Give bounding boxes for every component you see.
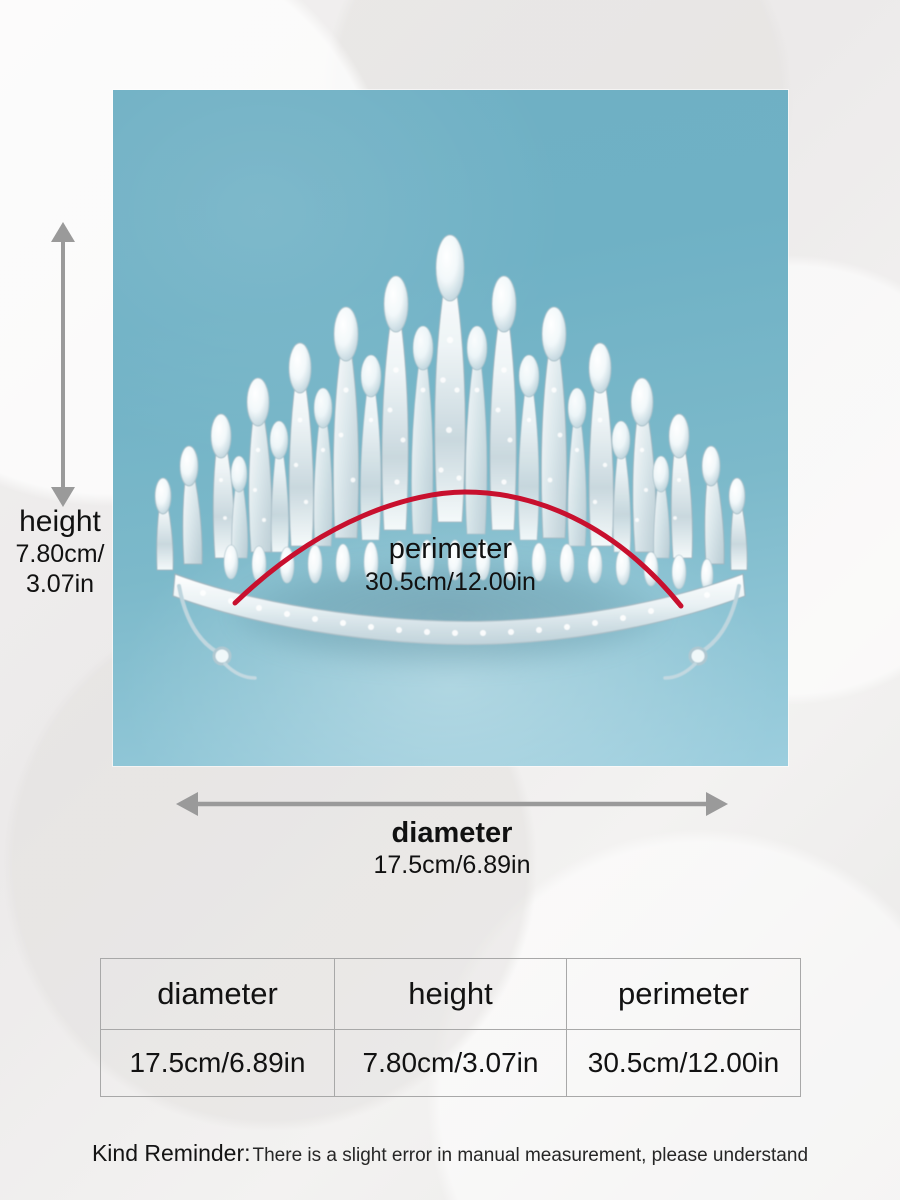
kind-reminder-label: Kind Reminder: [92, 1140, 251, 1166]
diameter-measurement-label: diameter 17.5cm/6.89in [176, 818, 728, 879]
diameter-label-title: diameter [176, 818, 728, 850]
tiara-illustration [113, 90, 788, 766]
diameter-label-value: 17.5cm/6.89in [176, 852, 728, 880]
height-measurement-label: height 7.80cm/ 3.07in [0, 506, 120, 598]
product-photo: perimeter 30.5cm/12.00in [113, 90, 788, 766]
kind-reminder-text: There is a slight error in manual measur… [253, 1145, 809, 1166]
table-header-height: height [335, 959, 567, 1030]
kind-reminder: Kind Reminder:There is a slight error in… [0, 1140, 900, 1167]
height-label-title: height [0, 506, 120, 538]
table-header-row: diameter height perimeter [101, 959, 801, 1030]
specification-table: diameter height perimeter 17.5cm/6.89in … [100, 958, 801, 1097]
diameter-double-arrow [176, 788, 728, 820]
table-header-perimeter: perimeter [567, 959, 801, 1030]
table-value-height: 7.80cm/3.07in [335, 1030, 567, 1097]
height-double-arrow [44, 222, 82, 507]
table-header-diameter: diameter [101, 959, 335, 1030]
table-value-diameter: 17.5cm/6.89in [101, 1030, 335, 1097]
table-value-perimeter: 30.5cm/12.00in [567, 1030, 801, 1097]
height-label-value-cm: 7.80cm/ [0, 541, 120, 568]
table-row: 17.5cm/6.89in 7.80cm/3.07in 30.5cm/12.00… [101, 1030, 801, 1097]
height-label-value-in: 3.07in [0, 571, 120, 598]
